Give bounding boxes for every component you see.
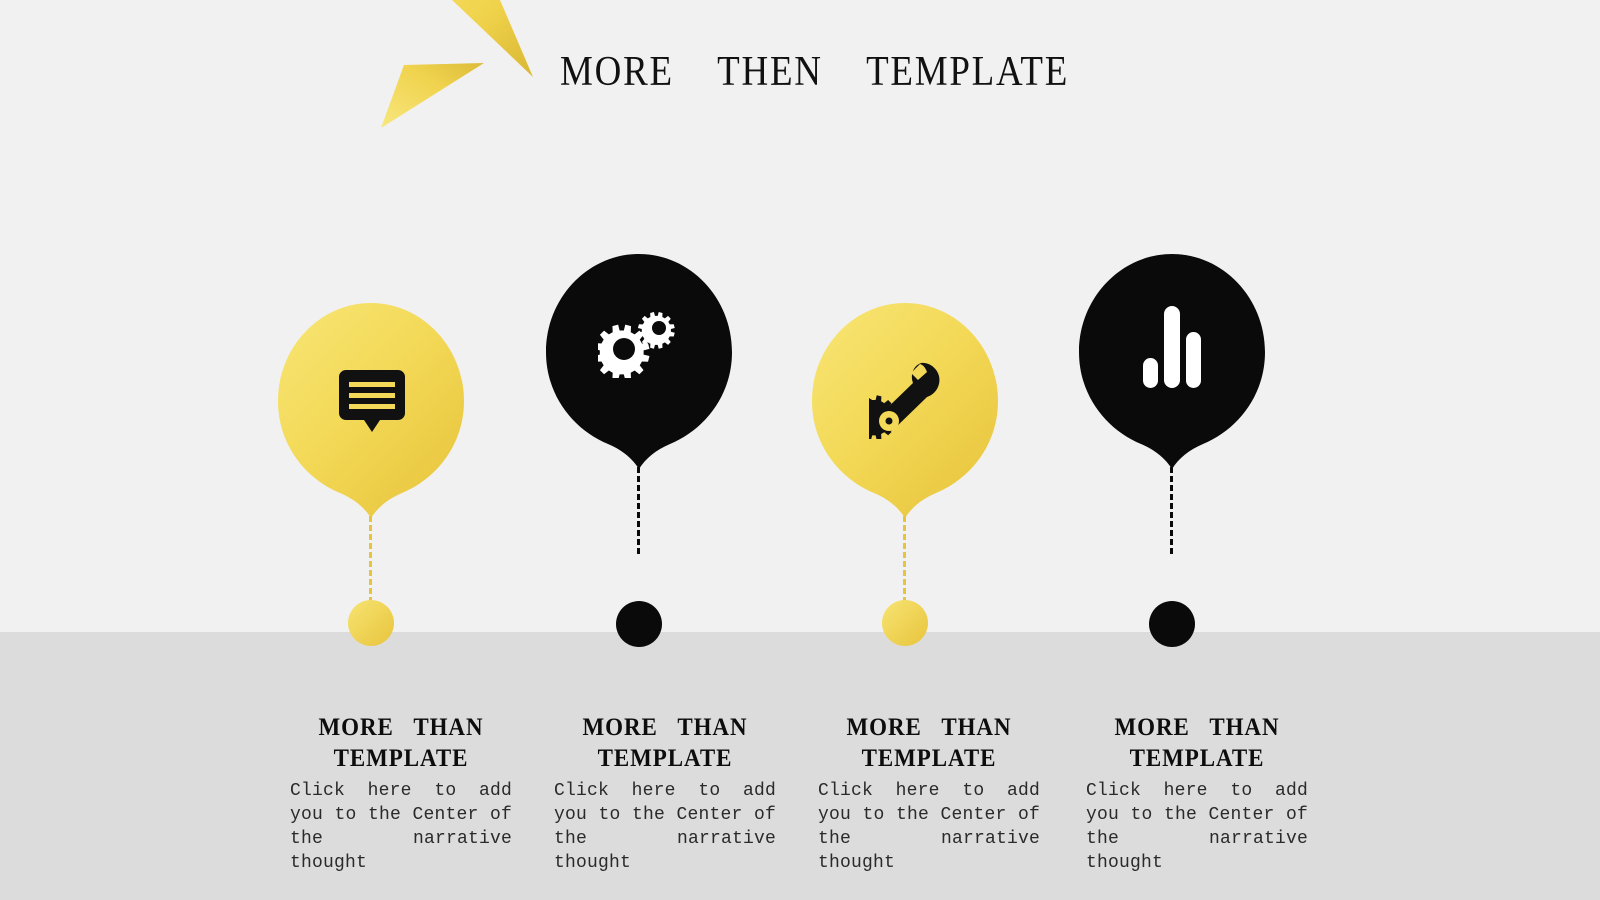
page-title: MORE THEN TEMPLATE <box>560 48 1069 96</box>
pin-marker-1[interactable] <box>278 303 464 518</box>
background-lower-band <box>0 632 1600 900</box>
pin-marker-4[interactable] <box>1079 254 1265 469</box>
caption-block-2: MORE THAN TEMPLATE Click here to add you… <box>554 712 776 875</box>
connector-line-4 <box>1170 467 1173 554</box>
caption-heading-1: MORE THAN TEMPLATE <box>299 712 503 774</box>
timeline-dot-4[interactable] <box>1149 601 1195 647</box>
caption-body-4: Click here to add you to the Center of t… <box>1086 779 1308 875</box>
caption-block-1: MORE THAN TEMPLATE Click here to add you… <box>290 712 512 875</box>
timeline-dot-3[interactable] <box>882 600 928 646</box>
caption-block-3: MORE THAN TEMPLATE Click here to add you… <box>818 712 1040 875</box>
caption-body-1: Click here to add you to the Center of t… <box>290 779 512 875</box>
gears-icon <box>598 308 680 378</box>
caption-block-4: MORE THAN TEMPLATE Click here to add you… <box>1086 712 1308 875</box>
caption-heading-4: MORE THAN TEMPLATE <box>1095 712 1299 774</box>
chat-bubble-icon <box>339 370 405 432</box>
connector-line-2 <box>637 467 640 554</box>
connector-line-1 <box>369 516 372 603</box>
arrow-ribbon-icon <box>370 0 560 140</box>
caption-heading-3: MORE THAN TEMPLATE <box>827 712 1031 774</box>
pin-marker-2[interactable] <box>546 254 732 469</box>
timeline-dot-1[interactable] <box>348 600 394 646</box>
wrench-gear-icon <box>869 361 945 439</box>
arrow-ribbon-decoration <box>370 0 560 140</box>
connector-line-3 <box>903 516 906 603</box>
bar-chart-icon <box>1141 306 1203 388</box>
caption-body-3: Click here to add you to the Center of t… <box>818 779 1040 875</box>
pin-marker-3[interactable] <box>812 303 998 518</box>
timeline-dot-2[interactable] <box>616 601 662 647</box>
caption-body-2: Click here to add you to the Center of t… <box>554 779 776 875</box>
caption-heading-2: MORE THAN TEMPLATE <box>563 712 767 774</box>
